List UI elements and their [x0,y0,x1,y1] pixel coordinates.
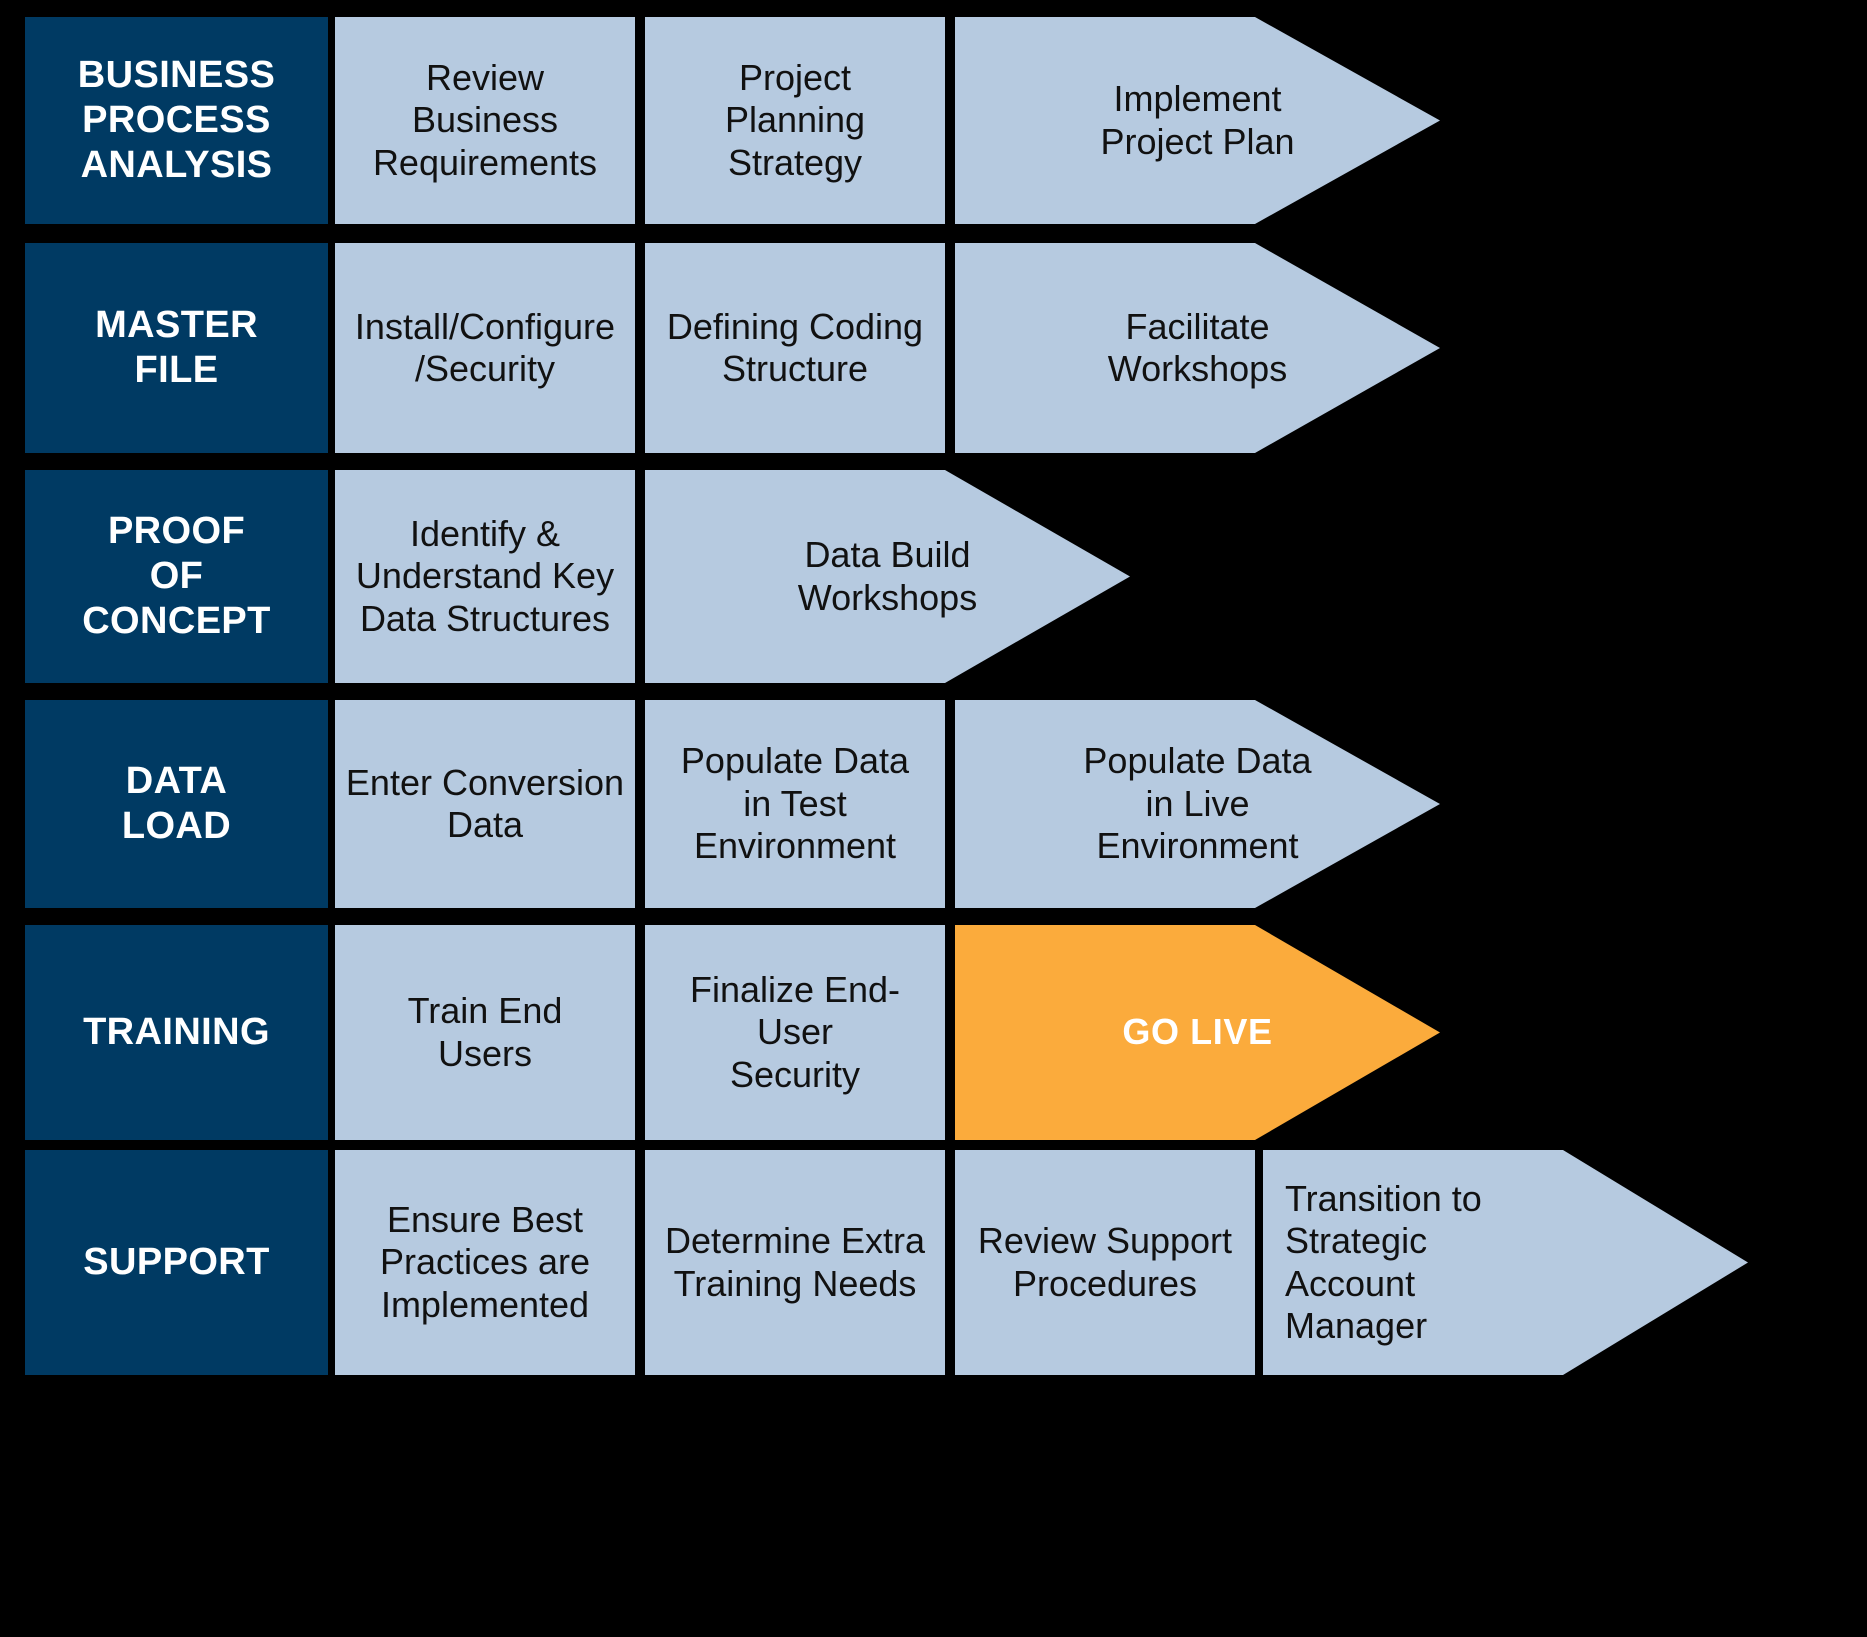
process-step-label: Populate Datain TestEnvironment [645,740,945,867]
process-step-finalize-end-user[interactable]: Finalize End-UserSecurity [645,925,945,1140]
process-step-install-configure[interactable]: Install/Configure/Security [335,243,635,453]
process-step-implement[interactable]: ImplementProject Plan [955,17,1440,224]
process-step-facilitate[interactable]: FacilitateWorkshops [955,243,1440,453]
process-step-label: Review SupportProcedures [955,1220,1255,1305]
process-step-enter-conversion[interactable]: Enter ConversionData [335,700,635,908]
process-step-review-support[interactable]: Review SupportProcedures [955,1150,1255,1375]
process-row: TRAININGTrain EndUsersFinalize End-UserS… [0,925,1867,1140]
process-step-label: Data BuildWorkshops [738,534,1038,619]
process-step-label: ProjectPlanningStrategy [645,57,945,184]
process-step-review[interactable]: ReviewBusinessRequirements [335,17,635,224]
process-step-label: Ensure BestPractices areImplemented [335,1199,635,1326]
process-step-ensure-best[interactable]: Ensure BestPractices areImplemented [335,1150,635,1375]
stage-label-proof-of-concept[interactable]: PROOFOFCONCEPT [25,470,328,683]
process-step-project[interactable]: ProjectPlanningStrategy [645,17,945,224]
stage-label-business-process-analysis[interactable]: BUSINESSPROCESSANALYSIS [25,17,328,224]
stage-label-text: SUPPORT [25,1240,328,1285]
stage-label-data-load[interactable]: DATALOAD [25,700,328,908]
process-step-label: Finalize End-UserSecurity [645,969,945,1096]
process-step-determine-extra[interactable]: Determine ExtraTraining Needs [645,1150,945,1375]
process-step-label: Determine ExtraTraining Needs [645,1220,945,1305]
stage-label-text: BUSINESSPROCESSANALYSIS [25,53,328,187]
process-step-transition-to[interactable]: Transition toStrategic AccountManager [1263,1150,1748,1375]
stage-label-support[interactable]: SUPPORT [25,1150,328,1375]
process-row: MASTERFILEInstall/Configure/SecurityDefi… [0,243,1867,453]
process-step-label: Enter ConversionData [335,762,635,847]
process-step-label: Train EndUsers [335,990,635,1075]
process-step-go-live[interactable]: GO LIVE [955,925,1440,1140]
stage-label-training[interactable]: TRAINING [25,925,328,1140]
process-step-label: ImplementProject Plan [1048,78,1348,163]
process-step-identify[interactable]: Identify &Understand KeyData Structures [335,470,635,683]
process-step-defining-coding[interactable]: Defining CodingStructure [645,243,945,453]
process-step-label: Populate Datain LiveEnvironment [1048,740,1348,867]
stage-label-text: MASTERFILE [25,303,328,393]
process-step-label: GO LIVE [1048,1011,1348,1053]
process-flow-diagram: BUSINESSPROCESSANALYSISReviewBusinessReq… [0,0,1867,1637]
process-step-populate-data[interactable]: Populate Datain TestEnvironment [645,700,945,908]
process-row: PROOFOFCONCEPTIdentify &Understand KeyDa… [0,470,1867,683]
process-step-label: Identify &Understand KeyData Structures [335,513,635,640]
stage-label-text: TRAINING [25,1010,328,1055]
process-row: DATALOADEnter ConversionDataPopulate Dat… [0,700,1867,908]
process-step-label: FacilitateWorkshops [1048,306,1348,391]
process-row: SUPPORTEnsure BestPractices areImplement… [0,1150,1867,1375]
stage-label-text: DATALOAD [25,759,328,849]
process-step-populate-data[interactable]: Populate Datain LiveEnvironment [955,700,1440,908]
stage-label-text: PROOFOFCONCEPT [25,509,328,643]
process-step-label: ReviewBusinessRequirements [335,57,635,184]
stage-label-master-file[interactable]: MASTERFILE [25,243,328,453]
process-step-label: Transition toStrategic AccountManager [1263,1178,1563,1348]
process-step-data-build[interactable]: Data BuildWorkshops [645,470,1130,683]
process-row: BUSINESSPROCESSANALYSISReviewBusinessReq… [0,17,1867,224]
process-step-label: Install/Configure/Security [335,306,635,391]
process-step-label: Defining CodingStructure [645,306,945,391]
process-step-train-end[interactable]: Train EndUsers [335,925,635,1140]
